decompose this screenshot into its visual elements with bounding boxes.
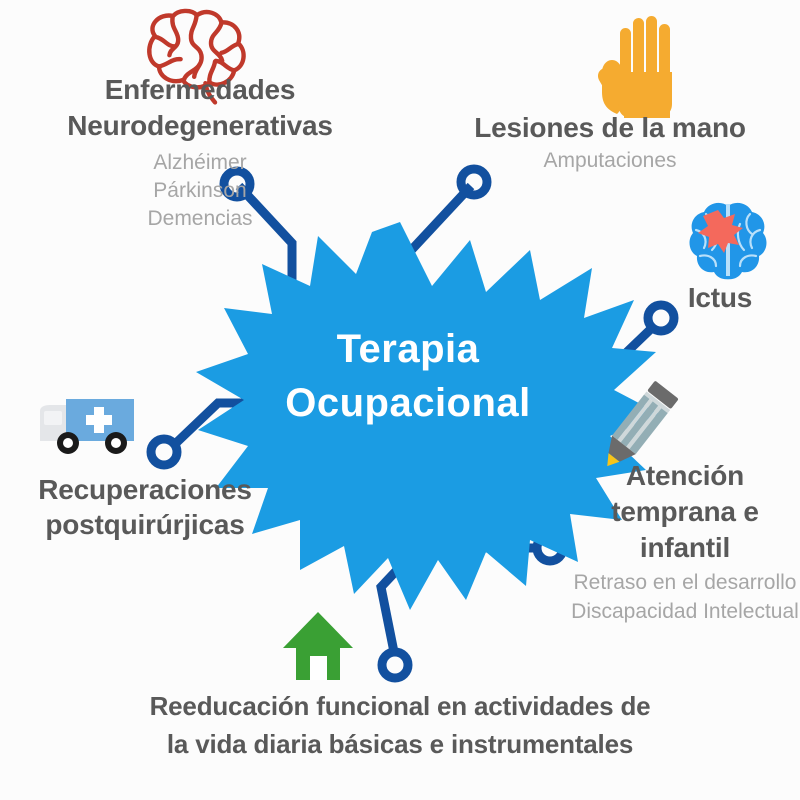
subtitle-line: Párkinson — [0, 177, 400, 205]
branch-label-lesiones-mano[interactable]: Lesiones de la mano Amputaciones — [420, 112, 800, 176]
ambulance-icon — [40, 399, 134, 454]
connector-lesiones-mano — [404, 169, 487, 258]
branch-title-reeducacion-funcional: Reeducación funcional en actividades de … — [35, 688, 765, 763]
branch-title-neurodegenerativas: Enfermedades Neurodegenerativas — [0, 72, 400, 145]
branch-subtitle-neurodegenerativas: Alzhéimer Párkinson Demencias — [0, 149, 400, 234]
branch-title-atencion-temprana: Atención temprana e infantil — [570, 458, 800, 565]
branch-title-recuperaciones: Recuperaciones postquirúrjicas — [0, 472, 290, 542]
branch-subtitle-lesiones-mano: Amputaciones — [420, 147, 800, 175]
subtitle-line: Retraso en el desarrollo — [570, 569, 800, 597]
branch-label-ictus[interactable]: Ictus — [640, 282, 800, 313]
branch-label-reeducacion-funcional[interactable]: Reeducación funcional en actividades de … — [35, 688, 765, 763]
title-line: temprana e — [570, 494, 800, 530]
title-line: Recuperaciones — [0, 472, 290, 507]
branch-label-neurodegenerativas[interactable]: Enfermedades Neurodegenerativas Alzhéime… — [0, 72, 400, 234]
node-circle-recuperaciones — [151, 439, 177, 465]
subtitle-line: Discapacidad Intelectual — [570, 598, 800, 626]
title-line: infantil — [570, 530, 800, 566]
branch-subtitle-atencion-temprana: Retraso en el desarrollo Discapacidad In… — [570, 569, 800, 626]
infographic-canvas: Terapia Ocupacional Enfermedades Neurode… — [0, 0, 800, 800]
subtitle-line: Amputaciones — [420, 147, 800, 175]
title-line: Neurodegenerativas — [0, 108, 400, 144]
branch-title-lesiones-mano: Lesiones de la mano — [420, 112, 800, 143]
title-line: la vida diaria básicas e instrumentales — [35, 726, 765, 764]
title-line: Ictus — [640, 282, 800, 313]
subtitle-line: Demencias — [0, 205, 400, 233]
branch-title-ictus: Ictus — [640, 282, 800, 313]
hand-icon — [598, 16, 672, 118]
title-line: Lesiones de la mano — [420, 112, 800, 143]
branch-label-atencion-temprana[interactable]: Atención temprana e infantil Retraso en … — [570, 458, 800, 626]
brain-top-stroke-icon — [690, 203, 767, 279]
title-line: Atención — [570, 458, 800, 494]
branch-label-recuperaciones[interactable]: Recuperaciones postquirúrjicas — [0, 472, 290, 542]
title-line: Reeducación funcional en actividades de — [35, 688, 765, 726]
subtitle-line: Alzhéimer — [0, 149, 400, 177]
house-icon — [283, 612, 353, 680]
title-line: Enfermedades — [0, 72, 400, 108]
node-circle-reeducacion — [382, 652, 408, 678]
title-line: postquirúrjicas — [0, 507, 290, 542]
